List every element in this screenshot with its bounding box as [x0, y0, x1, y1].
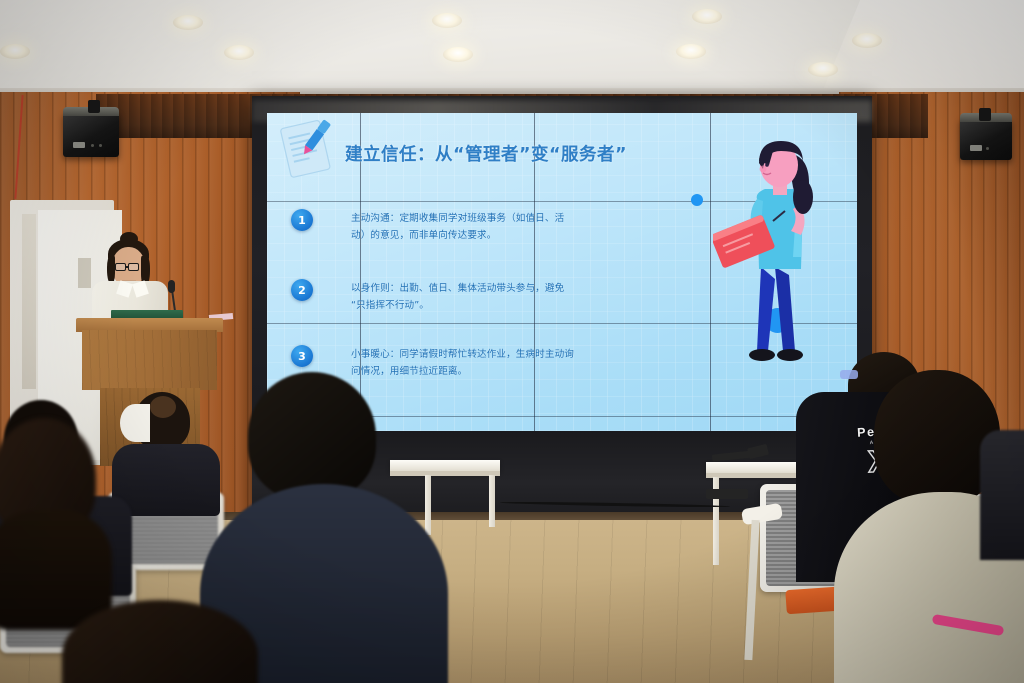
bullet-text-line: “只指挥不行动”。 — [351, 298, 651, 315]
audience-hair-long — [0, 510, 112, 630]
ceiling-downlight — [443, 47, 473, 62]
ceiling-downlight — [852, 33, 882, 48]
ceiling-downlight — [692, 9, 722, 24]
bullet-text-line: 以身作则：出勤、值日、集体活动带头参与，避免 — [351, 281, 651, 298]
speaker-mount-right — [979, 108, 991, 121]
cabinet-side-strip — [22, 214, 36, 389]
audience-torso — [980, 430, 1024, 560]
presenter-hair-side — [107, 256, 115, 284]
document-and-pen-icon — [273, 115, 345, 179]
desk-equipment-box — [706, 489, 748, 499]
bullet-number-badge: 2 — [291, 279, 313, 301]
speaker-led — [986, 147, 989, 150]
bullet-number-badge: 3 — [291, 345, 313, 367]
bullet-number-badge: 1 — [291, 209, 313, 231]
ceiling-downlight — [173, 15, 203, 30]
presenter-glasses — [115, 263, 126, 271]
slide-bullet-1: 1 主动沟通：定期收集同学对班级事务（如值日、活 动）的意见，而非单向传达要求。 — [351, 211, 651, 245]
ceiling-downlight — [676, 44, 706, 59]
bullet-text-line: 主动沟通：定期收集同学对班级事务（如值日、活 — [351, 211, 651, 228]
presenter-glasses — [128, 263, 139, 271]
podium-body — [82, 330, 217, 390]
audience-hair-bun — [150, 396, 176, 418]
presentation-slide[interactable]: 建立信任：从“管理者”变“服务者” 1 主动沟通：定期收集同学对班级事务（如值日… — [267, 113, 857, 431]
audience-glasses — [840, 370, 858, 379]
cabinet-vent — [78, 258, 91, 288]
decor-dot-small — [691, 194, 703, 206]
desk-leg — [489, 475, 495, 527]
ceiling-downlight — [432, 13, 462, 28]
speaker-led — [91, 144, 94, 147]
ceiling-downlight — [808, 62, 838, 77]
desk-edge — [390, 471, 500, 476]
speaker-badge — [73, 142, 85, 148]
audience-headband — [120, 404, 150, 442]
slide-bullet-3: 3 小事暖心：同学请假时帮忙转达作业，生病时主动询 问情况，用细节拉近距离。 — [351, 347, 651, 381]
bullet-text-line: 动）的意见，而非单向传达要求。 — [351, 228, 651, 245]
speaker-badge — [970, 145, 982, 151]
audience-head — [248, 372, 376, 500]
slide-title: 建立信任：从“管理者”变“服务者” — [345, 141, 765, 166]
bullet-text-line: 小事暖心：同学请假时帮忙转达作业，生病时主动询 — [351, 347, 651, 364]
ceiling-downlight — [224, 45, 254, 60]
woman-with-clipboard-illustration — [713, 139, 843, 389]
wall-speaker-left — [63, 112, 119, 157]
wall-speaker-right — [960, 118, 1012, 160]
speaker-led — [99, 144, 102, 147]
bullet-text-line: 问情况，用细节拉近距离。 — [351, 364, 651, 381]
podium-microphone-head — [168, 280, 175, 293]
desk-leg — [425, 475, 431, 535]
ceiling-downlight — [0, 44, 30, 59]
classroom-photo-scene: 建立信任：从“管理者”变“服务者” 1 主动沟通：定期收集同学对班级事务（如值日… — [0, 0, 1024, 683]
presenter-hair-bun — [120, 232, 138, 246]
slide-bullet-2: 2 以身作则：出勤、值日、集体活动带头参与，避免 “只指挥不行动”。 — [351, 281, 651, 315]
speaker-mount-left — [88, 100, 100, 113]
presenter-glasses-bridge — [126, 266, 129, 268]
